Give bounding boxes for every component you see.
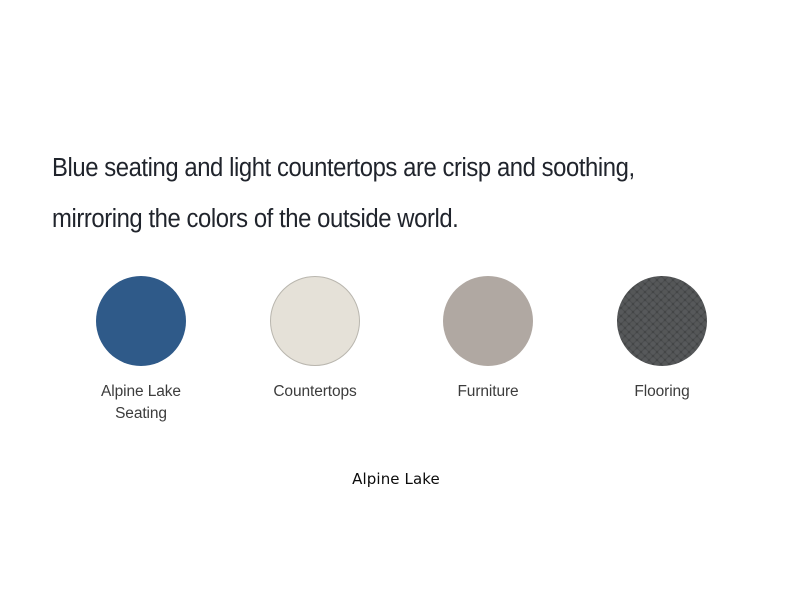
swatch-label-furniture: Furniture <box>408 381 568 403</box>
swatch-label-line-1: Countertops <box>235 381 395 403</box>
color-swatch-row: Alpine Lake Seating Countertops Furnitur… <box>0 276 800 436</box>
slide-canvas: Blue seating and light countertops are c… <box>0 0 800 600</box>
swatch-label-countertops: Countertops <box>235 381 395 403</box>
swatch-circle-flooring[interactable] <box>617 276 707 366</box>
slide-caption: Alpine Lake <box>296 470 496 488</box>
swatch-label-line-1: Flooring <box>582 381 742 403</box>
swatch-label-line-2: Seating <box>61 403 221 425</box>
swatch-label-flooring: Flooring <box>582 381 742 403</box>
swatch-group-alpine-lake-seating[interactable]: Alpine Lake Seating <box>61 276 221 425</box>
swatch-group-countertops[interactable]: Countertops <box>235 276 395 403</box>
swatch-group-furniture[interactable]: Furniture <box>408 276 568 403</box>
swatch-circle-furniture[interactable] <box>443 276 533 366</box>
swatch-group-flooring[interactable]: Flooring <box>582 276 742 403</box>
swatch-circle-countertops[interactable] <box>270 276 360 366</box>
swatch-label-line-1: Furniture <box>408 381 568 403</box>
headline-block: Blue seating and light countertops are c… <box>52 143 752 245</box>
swatch-label-alpine-lake-seating: Alpine Lake Seating <box>61 381 221 425</box>
swatch-label-line-1: Alpine Lake <box>61 381 221 403</box>
swatch-texture-flooring <box>617 276 707 366</box>
headline-line-2: mirroring the colors of the outside worl… <box>52 194 707 245</box>
headline-line-1: Blue seating and light countertops are c… <box>52 143 707 194</box>
swatch-circle-alpine-lake-seating[interactable] <box>96 276 186 366</box>
